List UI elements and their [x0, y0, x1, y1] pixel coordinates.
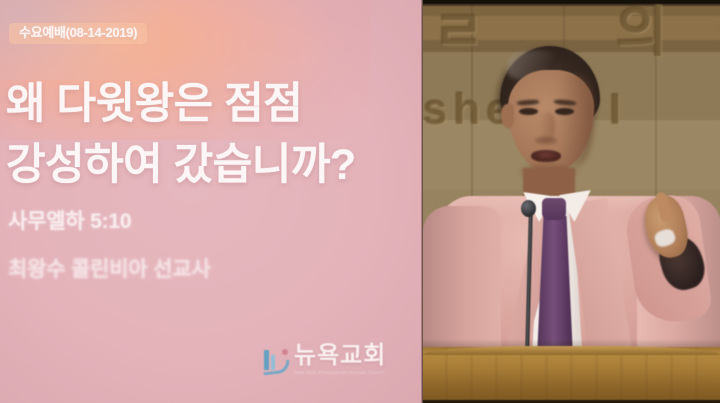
service-date-badge: 수요예배(08-14-2019)	[9, 23, 147, 44]
church-name-english: New York Presbyterian Korean Church	[294, 371, 386, 376]
scripture-reference: 사무엘하 5:10	[8, 205, 131, 235]
podium-top-edge	[423, 346, 720, 355]
church-logo-text: 뉴욕교회 New York Presbyterian Korean Church	[294, 344, 386, 376]
mouth	[531, 150, 561, 162]
ear	[501, 104, 514, 128]
church-name: 뉴욕교회	[294, 344, 386, 368]
sermon-title-line-1: 왜 다윗왕은 점점	[6, 74, 423, 135]
logo-swoosh	[262, 359, 290, 375]
speaker-photo: ㄹ 의 she rd I	[423, 0, 720, 403]
speaker-name: 최왕수 콜린비아 선교사	[8, 253, 210, 283]
jacket-left-sleeve	[423, 206, 501, 358]
necktie-knot	[542, 198, 566, 220]
microphone-icon	[521, 200, 536, 217]
sermon-title: 왜 다윗왕은 점점 강성하여 갔습니까?	[6, 74, 423, 197]
panel-photo-divider	[421, 0, 423, 403]
sermon-title-line-2: 강성하여 갔습니까?	[6, 135, 423, 196]
letterbox-bar-top	[423, 0, 720, 4]
eye-right	[555, 108, 574, 115]
face-shadow	[559, 74, 595, 166]
nose-shadow	[535, 137, 557, 144]
podium-wood-grain	[423, 347, 720, 403]
sermon-thumbnail: 수요예배(08-14-2019) 왜 다윗왕은 점점 강성하여 갔습니까? 사무…	[0, 0, 720, 403]
title-panel: 수요예배(08-14-2019) 왜 다윗왕은 점점 강성하여 갔습니까? 사무…	[0, 0, 423, 403]
church-logo: 뉴욕교회 New York Presbyterian Korean Church	[262, 344, 386, 376]
logo-dot	[282, 349, 288, 355]
church-logo-mark-icon	[262, 346, 288, 376]
eye-left	[519, 108, 538, 115]
